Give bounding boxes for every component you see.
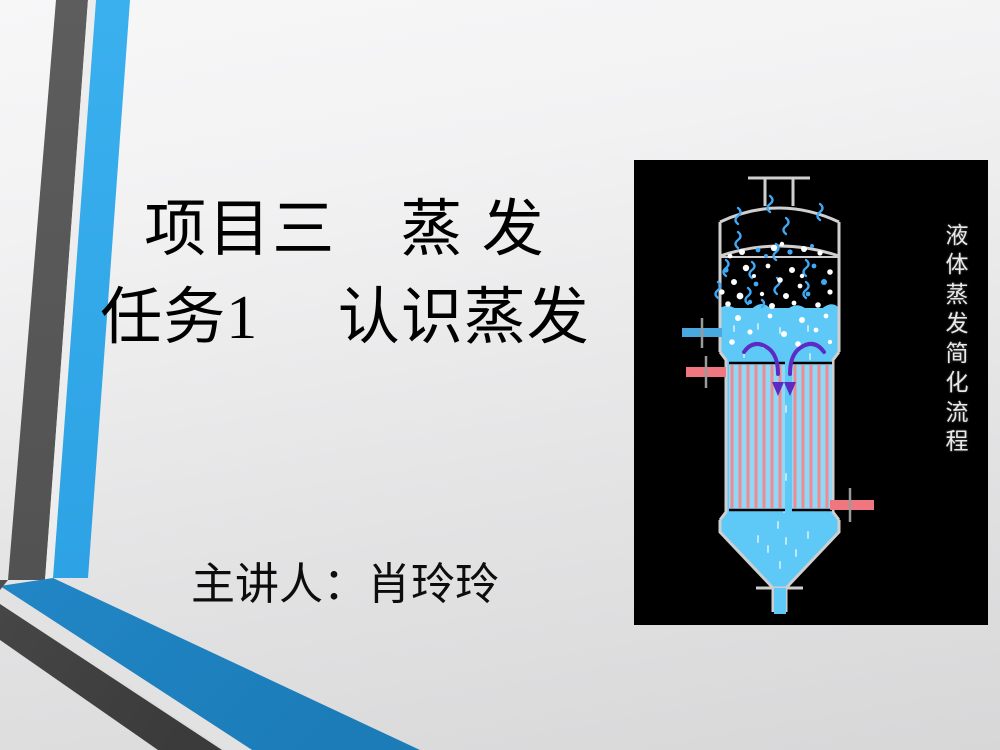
caption-char-5: 化 [940,369,974,398]
page-title-line-2: 任务1 认识蒸发 [55,280,635,358]
caption-char-2: 蒸 [940,281,974,310]
band-grey-wedge [0,580,8,590]
caption-char-6: 流 [940,399,974,428]
evaporator-diagram: 液 体 蒸 发 简 化 流 程 [634,160,988,625]
caption-char-4: 简 [940,340,974,369]
slide-canvas: 项目三 蒸 发 任务1 认识蒸发 主讲人：肖玲玲 [0,0,1000,750]
vapor-outlet-nozzle [748,178,810,206]
band-grey-diagonal [0,604,222,750]
caption-char-1: 体 [940,251,974,280]
tube-bundle-right [792,363,832,510]
page-title-line-1: 项目三 蒸 发 [55,195,635,266]
title-block: 项目三 蒸 发 任务1 认识蒸发 [55,195,635,358]
product-outlet-pipe [774,588,786,614]
picture-caption-vertical: 液 体 蒸 发 简 化 流 程 [940,222,974,458]
caption-char-3: 发 [940,310,974,339]
feed-inlet-nozzle [682,318,722,348]
caption-char-0: 液 [940,222,974,251]
steam-inlet-nozzle [686,356,726,388]
caption-char-7: 程 [940,428,974,457]
presenter-label: 主讲人：肖玲玲 [55,548,635,612]
